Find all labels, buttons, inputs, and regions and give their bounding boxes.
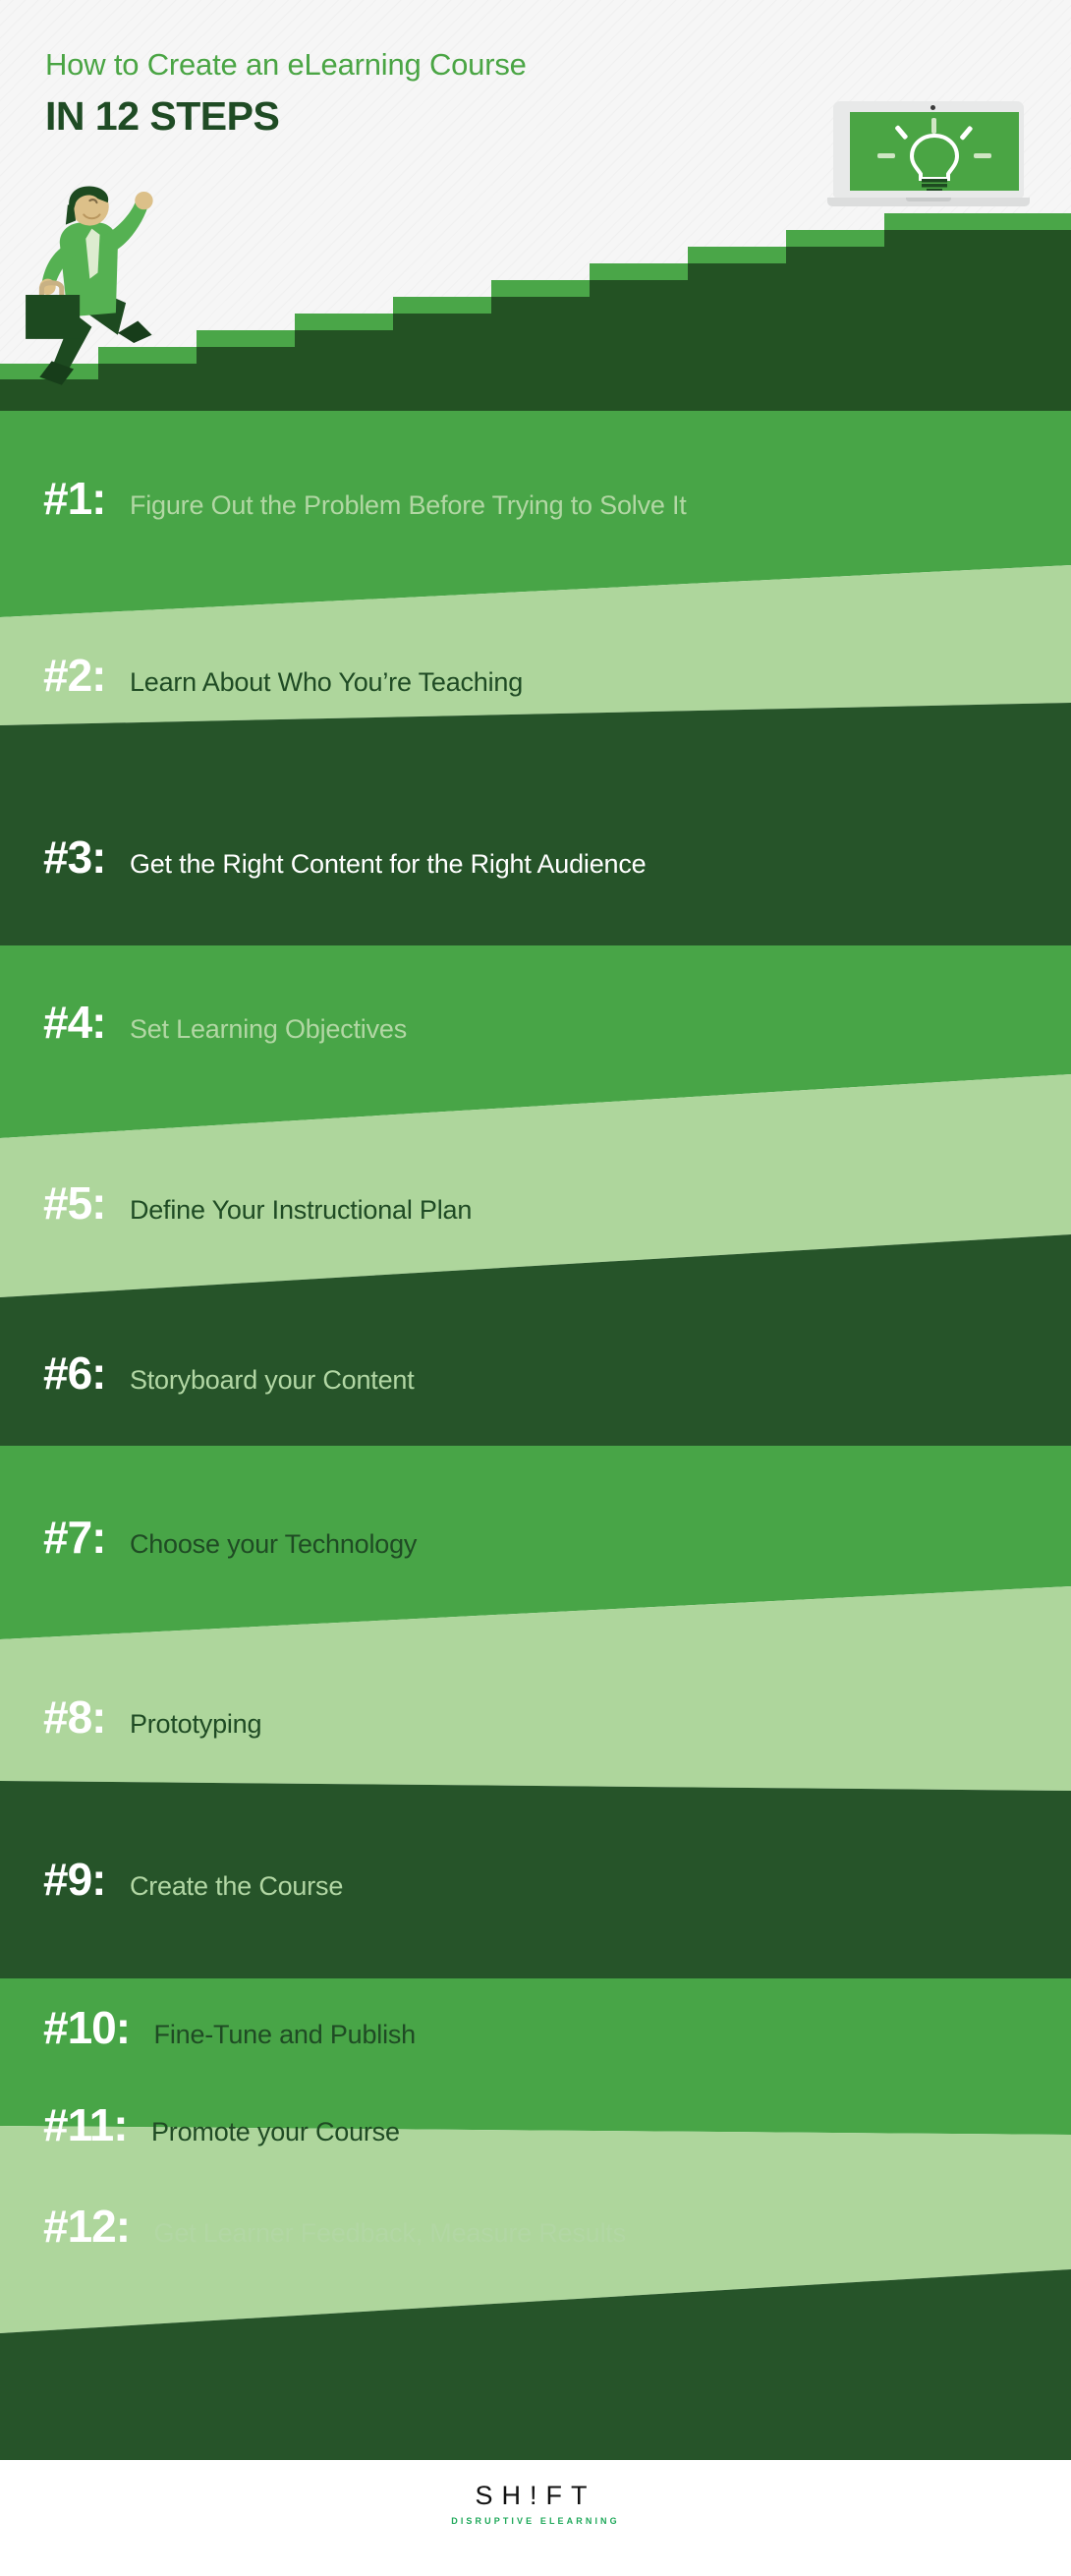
step-row-7[interactable]: #7: Choose your Technology — [43, 1511, 417, 1564]
step-number-6: #6: — [43, 1347, 105, 1399]
step-row-2[interactable]: #2: Learn About Who You’re Teaching — [43, 649, 523, 702]
step-number-7: #7: — [43, 1512, 105, 1563]
logo-tagline: DISRUPTIVE ELEARNING — [0, 2516, 1071, 2526]
step-number-9: #9: — [43, 1854, 105, 1905]
step-label-3: Get the Right Content for the Right Audi… — [130, 849, 647, 879]
step-number-8: #8: — [43, 1691, 105, 1743]
step-label-12: Get Learner Feedback, Measure Results — [154, 2218, 626, 2248]
step-number-4: #4: — [43, 997, 105, 1048]
step-row-4[interactable]: #4: Set Learning Objectives — [43, 996, 407, 1049]
step-label-4: Set Learning Objectives — [130, 1014, 407, 1044]
step-row-8[interactable]: #8: Prototyping — [43, 1690, 261, 1744]
step-number-2: #2: — [43, 650, 105, 701]
step-row-12[interactable]: #12: Get Learner Feedback, Measure Resul… — [43, 2200, 626, 2253]
step-row-9[interactable]: #9: Create the Course — [43, 1853, 343, 1906]
step-number-1: #1: — [43, 473, 105, 524]
step-label-7: Choose your Technology — [130, 1529, 417, 1559]
step-row-5[interactable]: #5: Define Your Instructional Plan — [43, 1176, 472, 1230]
step-label-1: Figure Out the Problem Before Trying to … — [130, 490, 687, 520]
steps-text-layer: #1: Figure Out the Problem Before Trying… — [0, 0, 1071, 2576]
step-label-2: Learn About Who You’re Teaching — [130, 667, 523, 697]
step-number-5: #5: — [43, 1177, 105, 1229]
step-row-11[interactable]: #11: Promote your Course — [43, 2098, 400, 2151]
step-label-5: Define Your Instructional Plan — [130, 1195, 472, 1225]
step-label-9: Create the Course — [130, 1871, 343, 1901]
step-label-11: Promote your Course — [151, 2117, 400, 2147]
step-row-1[interactable]: #1: Figure Out the Problem Before Trying… — [43, 472, 687, 525]
footer-section: SH!FT DISRUPTIVE ELEARNING — [0, 2460, 1071, 2576]
step-number-12: #12: — [43, 2201, 130, 2252]
infographic-page: How to Create an eLearning Course IN 12 … — [0, 0, 1071, 2576]
step-row-3[interactable]: #3: Get the Right Content for the Right … — [43, 830, 646, 884]
step-number-11: #11: — [43, 2099, 128, 2150]
step-number-3: #3: — [43, 831, 105, 883]
step-label-6: Storyboard your Content — [130, 1365, 415, 1395]
step-row-6[interactable]: #6: Storyboard your Content — [43, 1346, 415, 1400]
step-label-10: Fine-Tune and Publish — [154, 2020, 416, 2049]
step-label-8: Prototyping — [130, 1709, 261, 1739]
logo-wordmark: SH!FT — [0, 2483, 1071, 2509]
step-row-10[interactable]: #10: Fine-Tune and Publish — [43, 2001, 416, 2054]
step-number-10: #10: — [43, 2002, 130, 2053]
brand-logo[interactable]: SH!FT DISRUPTIVE ELEARNING — [0, 2483, 1071, 2526]
